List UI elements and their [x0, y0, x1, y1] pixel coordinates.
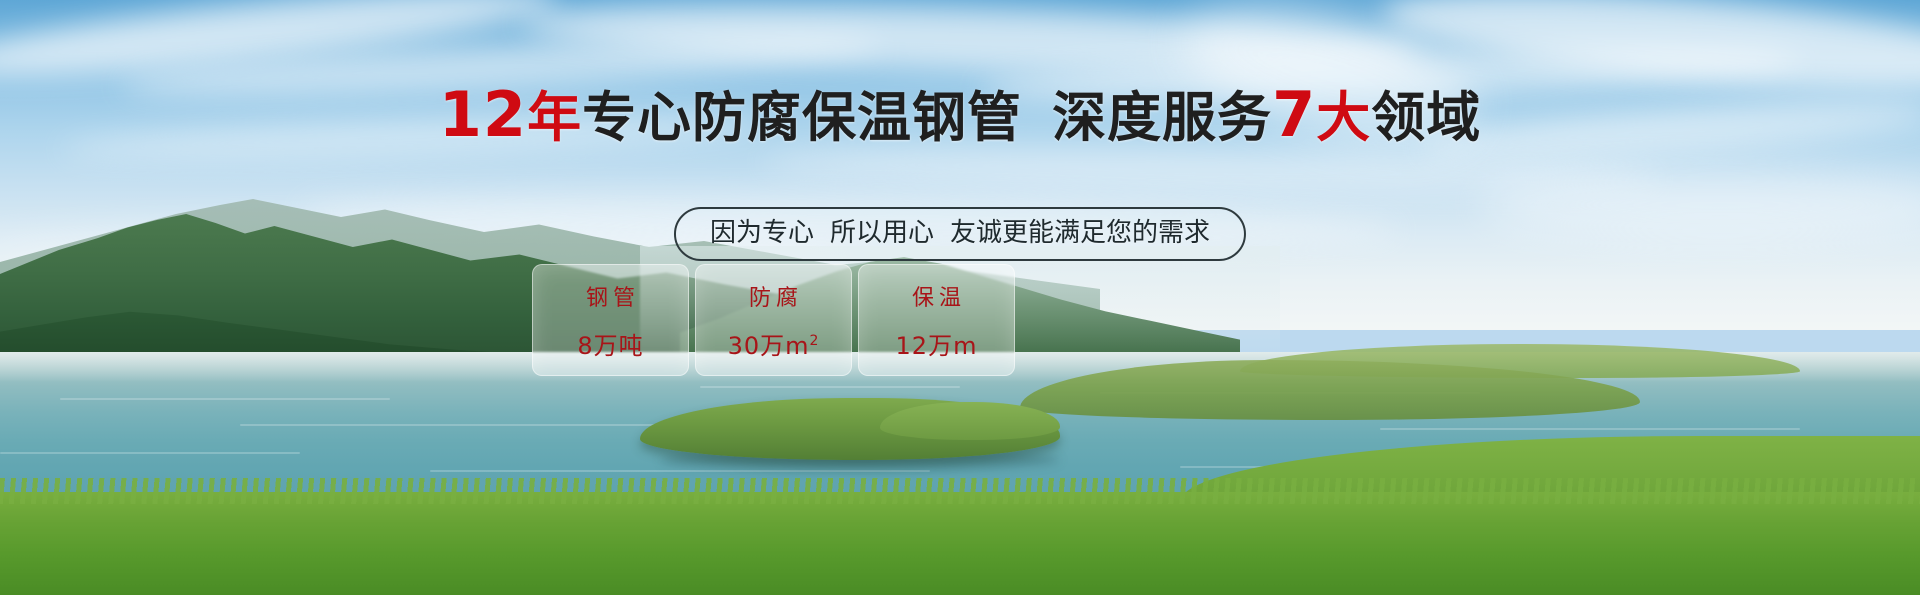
headline-years-number: 12	[439, 78, 527, 151]
headline-segment-three: 领域	[1371, 86, 1481, 149]
subtitle-part-two: 所以用心	[830, 218, 934, 248]
stat-card-label: 钢管	[581, 280, 640, 312]
hero-banner: 12年专心防腐保温钢管深度服务7大领域 因为专心所以用心友诚更能满足您的需求 钢…	[0, 0, 1920, 595]
stat-card-value: 12万m	[896, 326, 978, 361]
headline-segment-two: 深度服务	[1052, 86, 1272, 149]
water-ripple	[240, 424, 660, 426]
stat-card-label: 防腐	[744, 280, 803, 312]
water-ripple	[700, 386, 960, 388]
water-ripple	[1380, 428, 1800, 430]
subtitle-part-one: 因为专心	[710, 218, 814, 248]
water-ripple	[430, 470, 930, 472]
headline-fields-number: 7	[1272, 78, 1316, 151]
stat-card-value-superscript: 2	[810, 333, 820, 349]
headline-years-unit: 年	[527, 86, 582, 149]
stat-card-label: 保温	[907, 280, 966, 312]
stat-card-value-text: 8万吨	[577, 332, 643, 360]
water-ripple	[60, 398, 390, 400]
grass-island-small	[880, 402, 1060, 440]
grass-foreground	[0, 492, 1920, 595]
stat-card-value-text: 30万m	[728, 332, 810, 360]
water-ripple	[0, 452, 300, 454]
subtitle-part-three: 友诚更能满足您的需求	[950, 218, 1210, 248]
subtitle-pill: 因为专心所以用心友诚更能满足您的需求	[674, 207, 1246, 261]
stat-cards: 钢管 8万吨 防腐 30万m2 保温 12万m	[532, 264, 1015, 376]
headline-segment-one: 专心防腐保温钢管	[582, 86, 1022, 149]
stat-card-value: 8万吨	[577, 326, 643, 361]
stat-card-anticorrosion[interactable]: 防腐 30万m2	[695, 264, 852, 376]
cloud-shape	[1480, 170, 1920, 240]
stat-card-steel-pipe[interactable]: 钢管 8万吨	[532, 264, 689, 376]
stat-card-value-text: 12万m	[896, 332, 978, 360]
headline: 12年专心防腐保温钢管深度服务7大领域	[0, 86, 1920, 147]
stat-card-insulation[interactable]: 保温 12万m	[858, 264, 1015, 376]
stat-card-value: 30万m2	[728, 326, 820, 361]
headline-fields-unit-da: 大	[1316, 86, 1371, 149]
